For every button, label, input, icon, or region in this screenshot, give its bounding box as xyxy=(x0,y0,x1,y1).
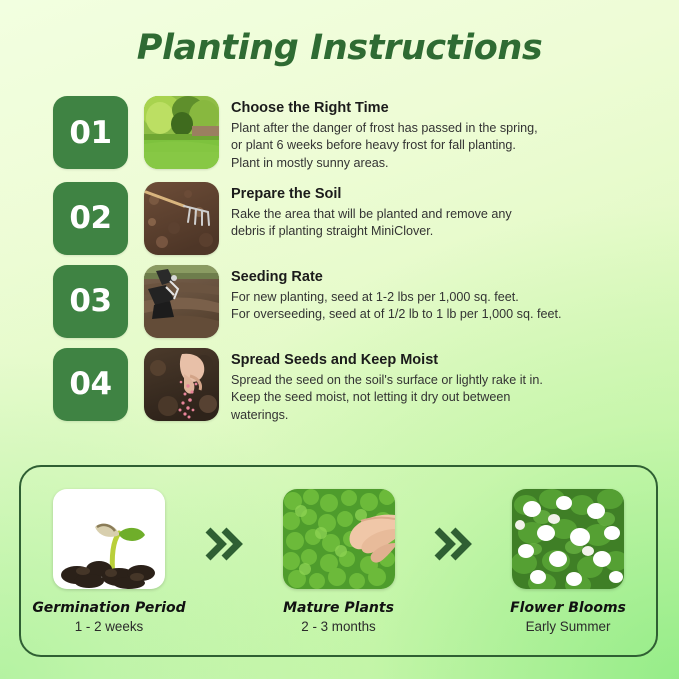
step-number-badge: 02 xyxy=(53,182,128,255)
step-title: Choose the Right Time xyxy=(231,99,538,117)
page-title: Planting Instructions xyxy=(0,28,679,68)
timeline-image-sprouting-seedling xyxy=(53,489,165,589)
double-chevron-right-icon xyxy=(201,526,247,562)
timeline-image-white-clover-flowers xyxy=(512,489,624,589)
timeline-sublabel: 1 - 2 weeks xyxy=(75,619,143,634)
timeline-sublabel: 2 - 3 months xyxy=(301,619,375,634)
timeline-item-germination: Germination Period 1 - 2 weeks xyxy=(39,489,179,634)
step-line: or plant 6 weeks before heavy frost for … xyxy=(231,137,538,154)
step-text: Choose the Right Time Plant after the da… xyxy=(231,96,538,172)
timeline-label: Mature Plants xyxy=(283,600,394,616)
step-text: Prepare the Soil Rake the area that will… xyxy=(231,182,512,241)
timeline-label: Flower Blooms xyxy=(510,600,626,616)
step-title: Spread Seeds and Keep Moist xyxy=(231,351,543,369)
step-line: Plant in mostly sunny areas. xyxy=(231,155,538,172)
step-title: Prepare the Soil xyxy=(231,185,512,203)
steps-list: 01 xyxy=(0,96,679,434)
step-line: Spread the seed on the soil's surface or… xyxy=(231,372,543,389)
step-thumbnail-lawn-with-trees xyxy=(144,96,219,169)
step-title: Seeding Rate xyxy=(231,268,561,286)
double-chevron-right-icon xyxy=(430,526,476,562)
planting-instructions-poster: Planting Instructions 01 xyxy=(0,0,679,679)
step-item: 02 xyxy=(0,182,679,255)
step-thumbnail-rake-on-soil xyxy=(144,182,219,255)
step-thumbnail-hand-seeding-furrow xyxy=(144,265,219,338)
step-line: For overseeding, seed at of 1/2 lb to 1 … xyxy=(231,306,561,323)
step-thumbnail-hand-spreading-seeds xyxy=(144,348,219,421)
timeline-item-flower-blooms: Flower Blooms Early Summer xyxy=(498,489,638,634)
step-number-badge: 04 xyxy=(53,348,128,421)
step-item: 04 xyxy=(0,348,679,424)
step-line: Keep the seed moist, not letting it dry … xyxy=(231,389,543,406)
step-line: Plant after the danger of frost has pass… xyxy=(231,120,538,137)
step-text: Seeding Rate For new planting, seed at 1… xyxy=(231,265,561,324)
timeline-item-mature-plants: Mature Plants 2 - 3 months xyxy=(269,489,409,634)
timeline-label: Germination Period xyxy=(32,600,185,616)
step-line: For new planting, seed at 1-2 lbs per 1,… xyxy=(231,289,561,306)
timeline-sublabel: Early Summer xyxy=(526,619,611,634)
step-number-badge: 03 xyxy=(53,265,128,338)
step-line: Rake the area that will be planted and r… xyxy=(231,206,512,223)
growth-timeline-card: Germination Period 1 - 2 weeks xyxy=(19,465,658,657)
step-text: Spread Seeds and Keep Moist Spread the s… xyxy=(231,348,543,424)
step-line: waterings. xyxy=(231,407,543,424)
step-number-badge: 01 xyxy=(53,96,128,169)
step-line: debris if planting straight MiniClover. xyxy=(231,223,512,240)
step-item: 01 xyxy=(0,96,679,172)
step-item: 03 xyxy=(0,265,679,338)
timeline-image-hand-touching-clover xyxy=(283,489,395,589)
